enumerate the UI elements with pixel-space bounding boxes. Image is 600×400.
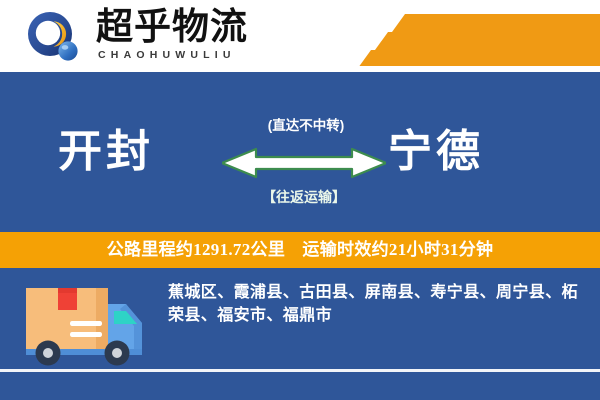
brand-name-cn: 超乎物流	[96, 8, 296, 48]
road-line	[0, 369, 600, 372]
double-headed-arrow-icon	[222, 146, 386, 180]
logistics-route-poster: 超乎物流 CHAOHUWULIU 开封 宁德 (直达不中转) 【往返运输】 公路…	[0, 0, 600, 400]
round-trip-note: 【往返运输】	[226, 188, 382, 206]
circle-q-logo-icon	[26, 9, 82, 65]
direct-route-note: (直达不中转)	[236, 118, 376, 134]
coverage-area-list: 蕉城区、霞浦县、古田县、屏南县、寿宁县、周宁县、柘荣县、福安市、福鼎市	[168, 281, 580, 327]
brand-wordmark: 超乎物流 CHAOHUWULIU	[96, 8, 296, 66]
poster-header: 超乎物流 CHAOHUWULIU	[0, 0, 600, 72]
distance-duration-text: 公路里程约1291.72公里 运输时效约21小时31分钟	[107, 240, 494, 260]
distance-duration-bar: 公路里程约1291.72公里 运输时效约21小时31分钟	[0, 232, 600, 268]
delivery-truck-icon	[14, 274, 154, 370]
origin-city: 开封	[58, 126, 154, 178]
destination-city: 宁德	[388, 126, 484, 178]
three-orange-stripes-icon	[330, 6, 600, 66]
brand-name-en: CHAOHUWULIU	[98, 49, 296, 62]
